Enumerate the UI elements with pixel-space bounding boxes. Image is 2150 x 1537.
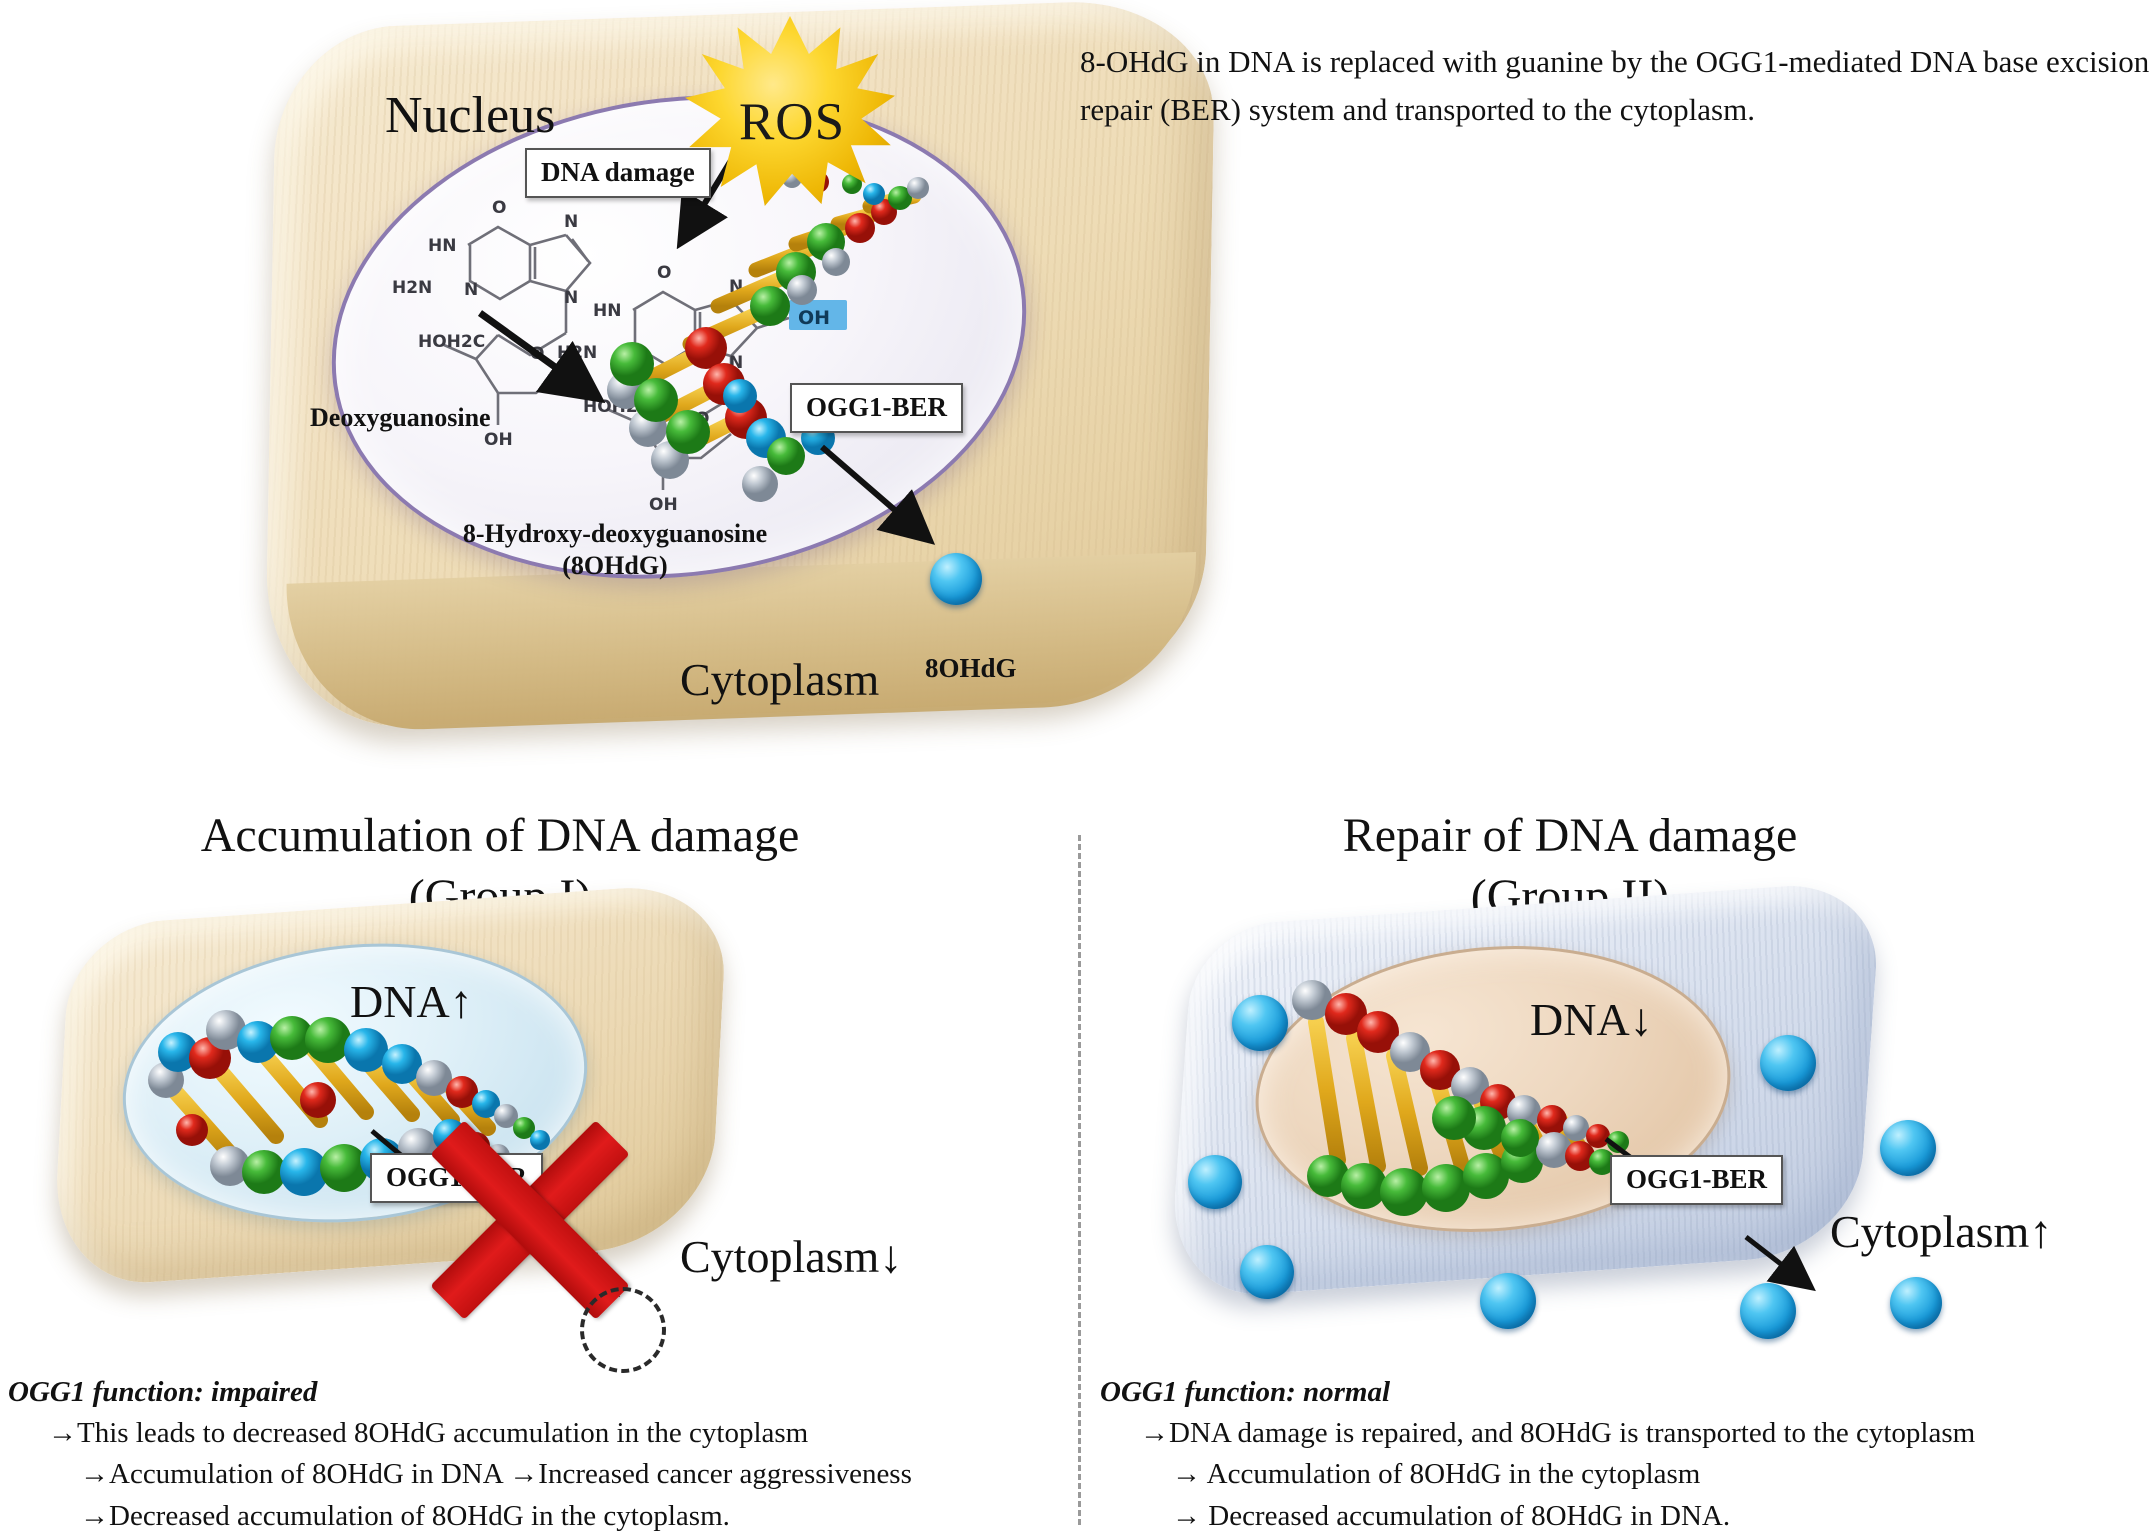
nucleus-label: Nucleus (385, 86, 555, 145)
ohdg-particle (930, 553, 982, 605)
ros-burst: ROS (685, 16, 895, 206)
ohdg-particle (1480, 1273, 1536, 1329)
group2-caption-line-1: →DNA damage is repaired, and 8OHdG is tr… (1100, 1413, 1975, 1454)
cytoplasm-label-top: Cytoplasm (680, 653, 879, 706)
intro-line-1: 8-OHdG in DNA is replaced with guanine b… (1080, 44, 1902, 79)
ohdg-dot-label: 8OHdG (925, 653, 1017, 684)
ohdg-particle (1188, 1155, 1242, 1209)
group1-caption: OGG1 function: impaired →This leads to d… (8, 1372, 912, 1537)
dna-damage-tag: DNA damage (525, 148, 711, 198)
intro-paragraph: 8-OHdG in DNA is replaced with guanine b… (1080, 38, 2150, 134)
cytoplasm-label-group2: Cytoplasm↑ (1830, 1205, 2052, 1258)
group2-caption: OGG1 function: normal →DNA damage is rep… (1100, 1372, 1975, 1537)
group1-caption-line-2: →Accumulation of 8OHdG in DNA →Increased… (8, 1454, 912, 1495)
svg-text:N: N (464, 280, 478, 300)
group2-caption-line-2: → Accumulation of 8OHdG in the cytoplasm (1100, 1454, 1975, 1495)
group1-caption-header: OGG1 function: impaired (8, 1372, 912, 1413)
dna-label-group1: DNA↑ (350, 975, 473, 1028)
ohdg-particle (1240, 1245, 1294, 1299)
svg-text:HN: HN (428, 236, 456, 256)
svg-text:OH: OH (484, 430, 513, 450)
dna-label-group2: DNA↓ (1530, 993, 1653, 1046)
panel-divider (1078, 835, 1081, 1525)
ohdg-name-line1: 8-Hydroxy-deoxyguanosine (463, 519, 767, 548)
cytoplasm-label-group1: Cytoplasm↓ (680, 1230, 902, 1283)
group2-heading-line1: Repair of DNA damage (1343, 809, 1798, 862)
group2-caption-header: OGG1 function: normal (1100, 1372, 1975, 1413)
ohdg-name-line2: (8OHdG) (562, 551, 667, 580)
group1-cell-panel: DNA↑ OGG1-BER Cytoplasm↓ (60, 905, 1020, 1335)
ros-label: ROS (685, 16, 895, 206)
ogg1-ber-tag-group2: OGG1-BER (1610, 1155, 1783, 1205)
svg-text:O: O (492, 198, 506, 218)
group2-cell-panel: DNA↓ OGG1-BER Cytoplasm↑ (1180, 905, 2150, 1345)
deoxyguanosine-label: Deoxyguanosine (310, 403, 491, 433)
group1-caption-line-1: →This leads to decreased 8OHdG accumulat… (8, 1413, 912, 1454)
ohdg-name-label: 8-Hydroxy-deoxyguanosine (8OHdG) (415, 518, 815, 581)
ogg1-ber-export-arrow-top (800, 433, 1020, 583)
ohdg-particle (1232, 995, 1288, 1051)
damage-conversion-arrow (470, 303, 690, 433)
group1-heading-line1: Accumulation of DNA damage (201, 809, 800, 862)
ogg1-ber-tag-top: OGG1-BER (790, 383, 963, 433)
absent-ohdg-dot (580, 1287, 666, 1373)
ohdg-particle (1760, 1035, 1816, 1091)
svg-text:H2N: H2N (392, 278, 432, 298)
